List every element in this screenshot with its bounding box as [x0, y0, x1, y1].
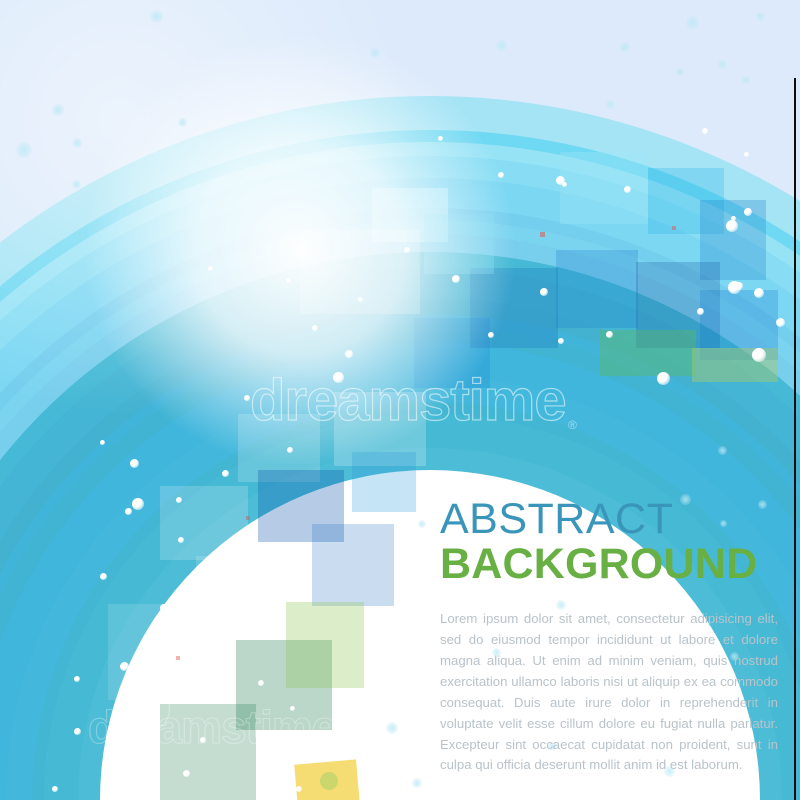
- bokeh-dot: [333, 372, 344, 383]
- bokeh-dot: [287, 447, 293, 453]
- bokeh-dot-soft: [52, 104, 64, 116]
- bokeh-dot: [130, 459, 139, 468]
- bokeh-dot-soft: [606, 100, 615, 109]
- bokeh-dot: [540, 288, 548, 296]
- bokeh-dot: [74, 676, 80, 682]
- bokeh-dot: [214, 616, 219, 621]
- bokeh-dot: [697, 308, 704, 315]
- bokeh-dot-soft: [620, 42, 630, 52]
- bokeh-dot: [744, 152, 749, 157]
- bokeh-dot-soft: [72, 180, 81, 189]
- bokeh-dot-soft: [686, 16, 699, 29]
- bokeh-dot: [222, 549, 229, 556]
- body-paragraph: Lorem ipsum dolor sit amet, consectetur …: [440, 609, 778, 776]
- bokeh-dot-soft: [412, 778, 422, 788]
- bokeh-dot: [100, 440, 105, 445]
- bokeh-dot: [296, 786, 302, 792]
- bokeh-dot: [345, 350, 353, 358]
- bokeh-dot: [657, 372, 670, 385]
- bokeh-dot: [438, 136, 443, 141]
- bokeh-dot-soft: [496, 40, 507, 51]
- bokeh-dot: [244, 395, 250, 401]
- bokeh-dot: [120, 662, 129, 671]
- bokeh-dot-soft: [386, 722, 398, 734]
- bokeh-dot: [240, 617, 248, 625]
- right-edge-rule: [794, 78, 796, 800]
- bokeh-dot: [125, 508, 132, 515]
- bokeh-dot-soft: [178, 118, 187, 127]
- bokeh-dot: [200, 737, 206, 743]
- bokeh-dot: [290, 706, 295, 711]
- bokeh-dot-soft: [718, 60, 727, 69]
- headline-line-2: BACKGROUND: [440, 542, 778, 588]
- bokeh-dot: [754, 288, 764, 298]
- bokeh-dot: [735, 282, 743, 290]
- bokeh-dot: [100, 573, 107, 580]
- headline-line-1: ABSTRACT: [440, 498, 778, 542]
- bokeh-dot: [160, 604, 168, 612]
- bokeh-dot: [702, 128, 708, 134]
- bokeh-dot: [52, 786, 58, 792]
- bokeh-dot: [452, 275, 460, 283]
- bokeh-dot: [358, 297, 363, 302]
- bokeh-dot-soft: [756, 12, 765, 21]
- poster-canvas: dreamstime ® dreamstime ABSTRACT BACKGRO…: [0, 0, 800, 800]
- bokeh-dot-soft: [370, 48, 380, 58]
- bokeh-dot: [132, 498, 144, 510]
- bokeh-dot: [606, 331, 613, 338]
- bokeh-dot: [404, 247, 410, 253]
- bokeh-dot: [160, 637, 166, 643]
- bokeh-dot: [152, 716, 158, 722]
- bokeh-dot: [752, 348, 766, 362]
- bokeh-dot: [624, 186, 631, 193]
- bokeh-dot-soft: [676, 68, 684, 76]
- bokeh-dot: [498, 172, 504, 178]
- bokeh-dot: [178, 537, 184, 543]
- bokeh-dot: [312, 325, 318, 331]
- bokeh-dot-soft: [742, 76, 750, 84]
- bokeh-dot: [726, 220, 738, 232]
- bokeh-dot-soft: [718, 446, 727, 455]
- bokeh-dot: [222, 470, 229, 477]
- bokeh-dot: [183, 770, 190, 777]
- bokeh-dot: [258, 680, 264, 686]
- bokeh-dot-soft: [72, 138, 82, 148]
- bokeh-dot: [208, 266, 213, 271]
- bokeh-dot: [176, 497, 182, 503]
- bokeh-dot: [488, 332, 494, 338]
- bokeh-dot: [562, 182, 567, 187]
- bokeh-dot: [558, 338, 564, 344]
- bokeh-dot-soft: [150, 10, 163, 23]
- watermark-registered-mark: ®: [568, 418, 577, 432]
- bokeh-dot-soft: [16, 142, 32, 158]
- bokeh-dot: [74, 728, 81, 735]
- bokeh-dot: [744, 208, 752, 216]
- bokeh-dot: [776, 318, 785, 327]
- bokeh-dot: [286, 278, 291, 283]
- bokeh-dot: [221, 558, 226, 563]
- text-block: ABSTRACT BACKGROUND Lorem ipsum dolor si…: [440, 498, 778, 776]
- bokeh-dot-soft: [418, 520, 426, 528]
